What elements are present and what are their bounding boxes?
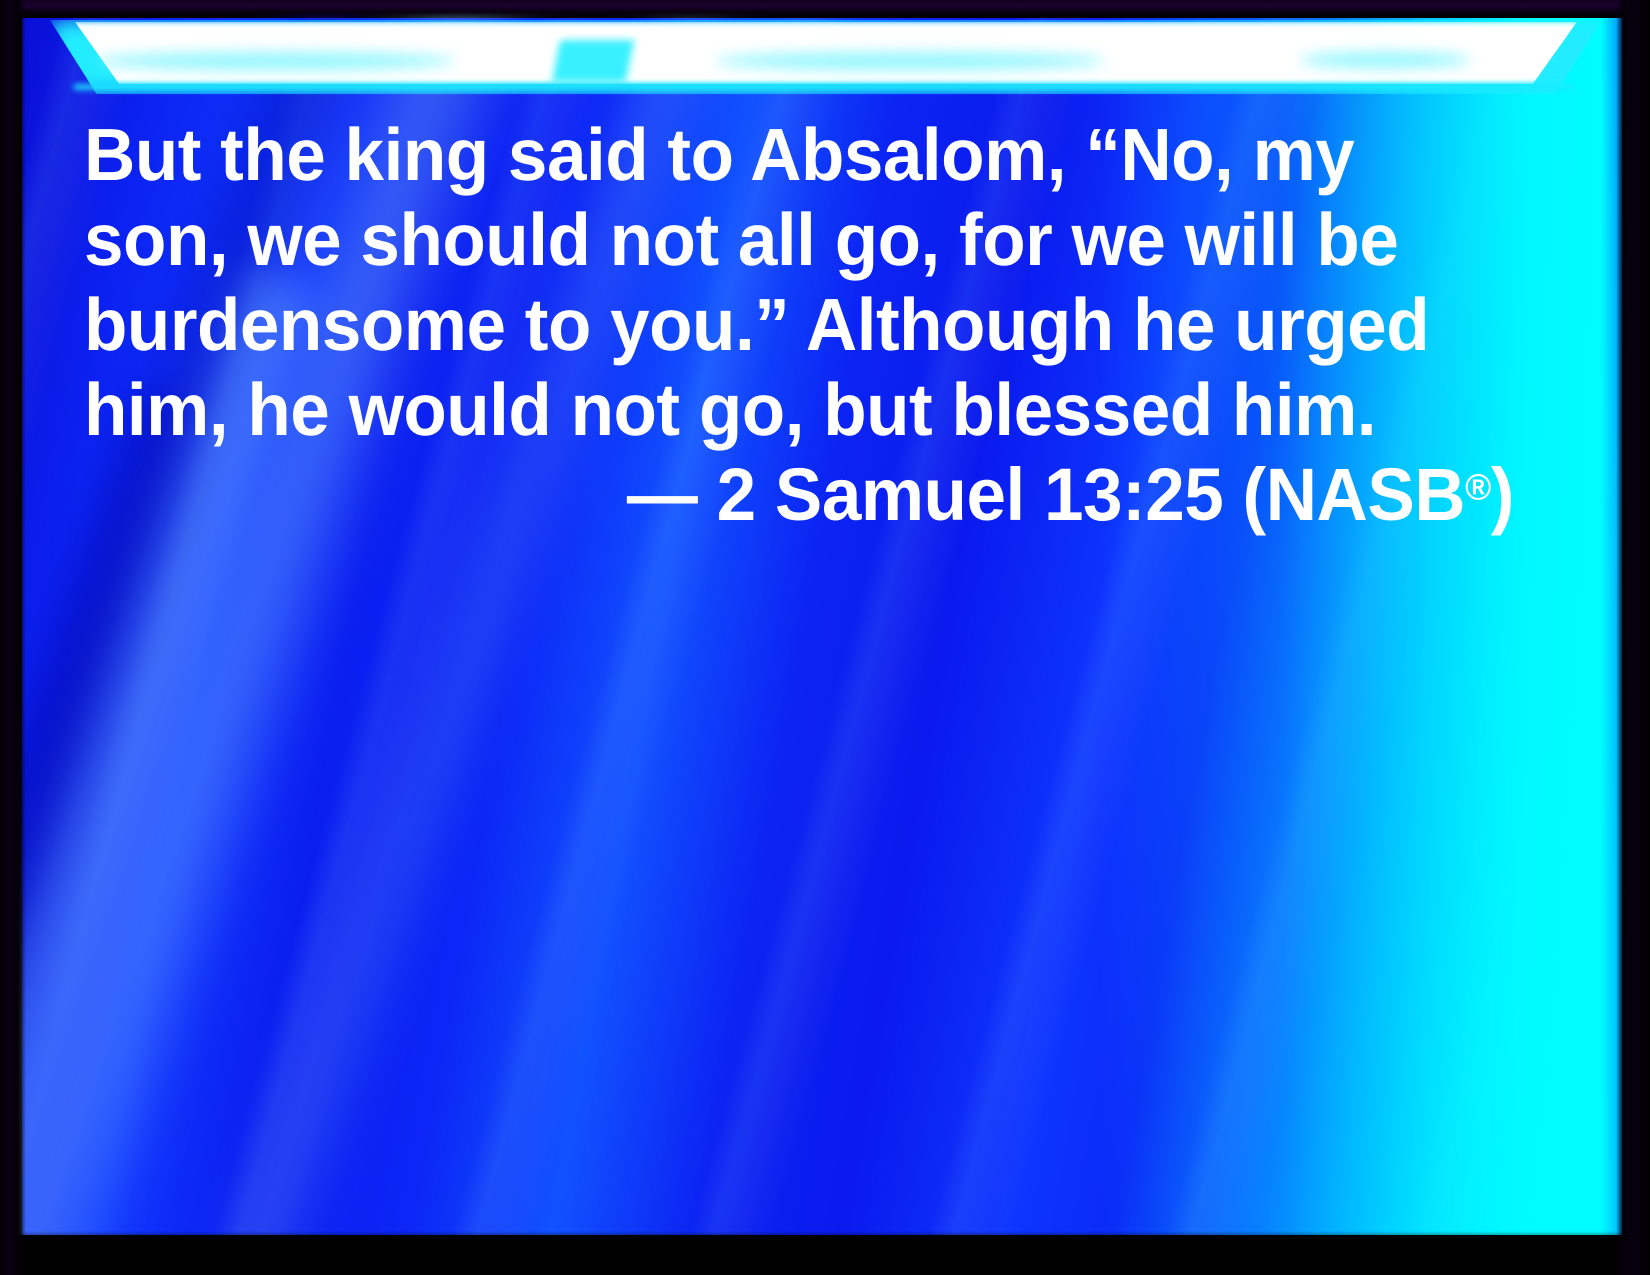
citation-prefix: — 2 Samuel 13:25 (NASB (627, 453, 1465, 536)
registered-trademark-icon: ® (1465, 467, 1491, 508)
verse-line-3: burdensome to you.” Although he urged (84, 282, 1457, 367)
verse-slide: But the king said to Absalom, “No, my so… (0, 0, 1650, 1275)
verse-citation: — 2 Samuel 13:25 (NASB®) (141, 452, 1514, 537)
bottom-black-band (0, 1235, 1650, 1275)
verse-line-1: But the king said to Absalom, “No, my (84, 112, 1457, 197)
verse-text-block: But the king said to Absalom, “No, my so… (84, 112, 1514, 537)
verse-line-4: him, he would not go, but blessed him. (84, 367, 1457, 452)
verse-line-2: son, we should not all go, for we will b… (84, 197, 1457, 282)
citation-suffix: ) (1491, 453, 1514, 536)
